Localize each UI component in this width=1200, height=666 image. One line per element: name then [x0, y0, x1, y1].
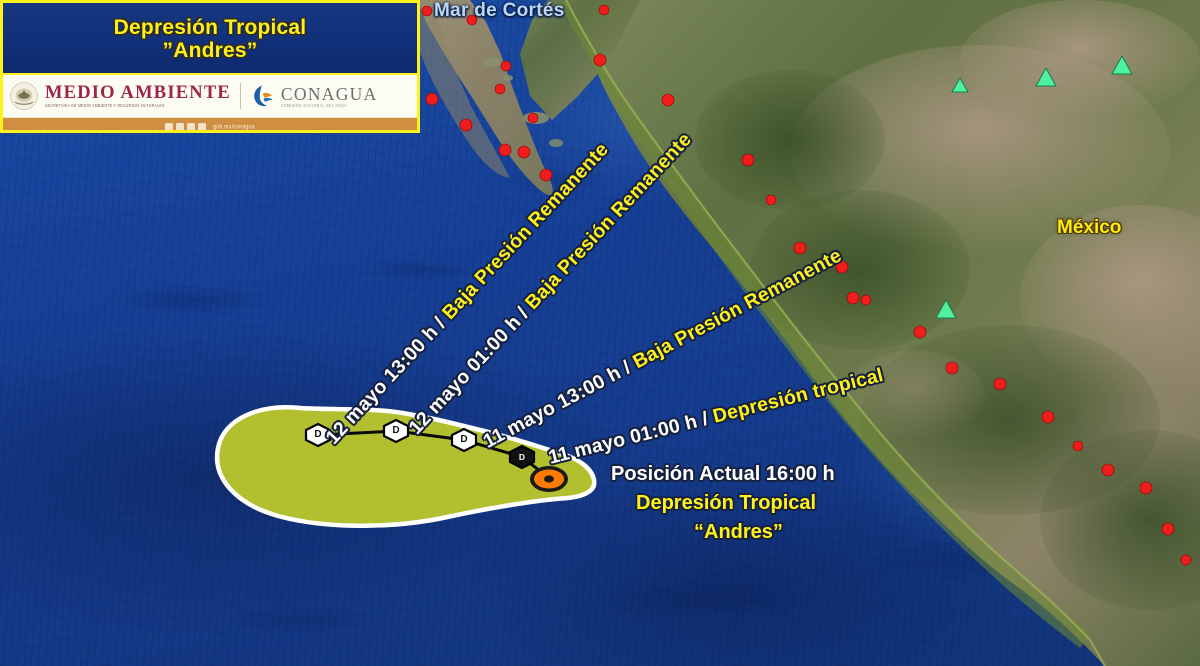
medio-ambiente-wordmark: MEDIO AMBIENTE	[45, 84, 231, 103]
header-panel: Depresión Tropical ”Andres” MEDIO AMBIEN…	[0, 0, 420, 133]
agency-logo-bar: MEDIO AMBIENTE SECRETARÍA DE MEDIO AMBIE…	[3, 73, 417, 118]
current-position-line3: “Andres”	[694, 521, 783, 544]
instagram-icon[interactable]	[187, 123, 195, 131]
twitter-icon[interactable]	[176, 123, 184, 131]
track-marker-depression-current-fcst	[510, 446, 534, 468]
page-title-line2: ”Andres”	[163, 39, 258, 62]
conagua-subtitle: COMISIÓN NACIONAL DEL AGUA	[281, 103, 378, 109]
mexico-coat-of-arms-icon	[9, 81, 39, 111]
logo-divider	[240, 83, 241, 109]
conagua-logo-icon	[250, 83, 276, 109]
conagua-wordmark: CONAGUA	[281, 85, 378, 103]
facebook-icon[interactable]	[165, 123, 173, 131]
agency-url: gob.mx/conagua	[213, 123, 255, 131]
hurricane-track-map: Mar de Cortés México D D D D 12 mayo 13:…	[0, 0, 1200, 666]
medio-ambiente-subtitle: SECRETARÍA DE MEDIO AMBIENTE Y RECURSOS …	[45, 103, 231, 109]
track-marker-depression	[452, 429, 476, 451]
current-position-line2: Depresión Tropical	[636, 492, 816, 515]
page-title-line1: Depresión Tropical	[114, 16, 307, 39]
social-media-bar: gob.mx/conagua	[3, 118, 417, 133]
header-title-block: Depresión Tropical ”Andres”	[3, 3, 417, 73]
current-position-line1: Posición Actual 16:00 h	[611, 463, 835, 486]
youtube-icon[interactable]	[198, 123, 206, 131]
current-position-marker	[530, 466, 568, 492]
